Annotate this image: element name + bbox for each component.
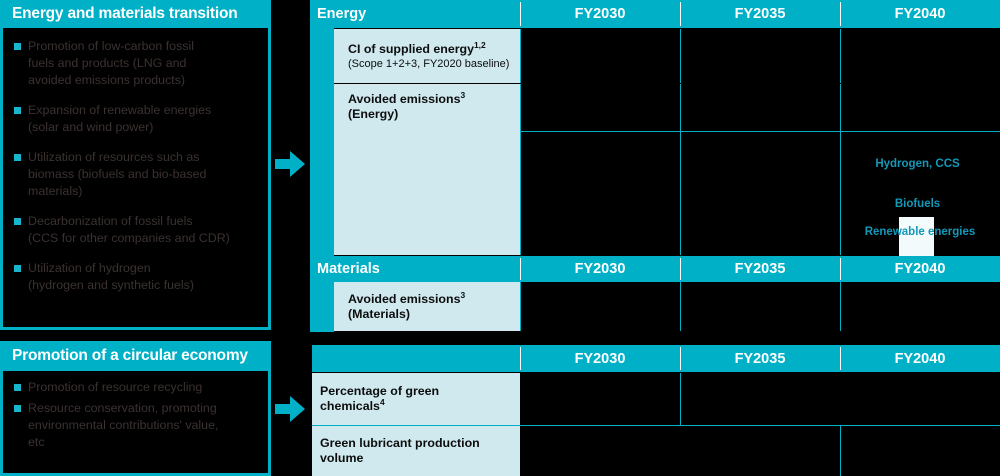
- table-circular-economy: FY2030 FY2035 FY2040 Percentage of green…: [312, 345, 1000, 476]
- list-item: Expansion of renewable energies (solar a…: [14, 102, 258, 136]
- cell-divider-am-2: [680, 282, 681, 331]
- data-cell-ci-fy2030: [520, 29, 680, 83]
- cell-divider-ae-l2: [680, 132, 681, 255]
- footnote-marker: 1,2: [474, 39, 486, 49]
- col-header-circular-fy2040: FY2040: [840, 345, 1000, 372]
- panel-energy-materials-transition: Energy and materials transition Promotio…: [0, 0, 271, 330]
- list-item: Promotion of low-carbon fossil fuels and…: [14, 38, 258, 89]
- bullet-list-energy-materials: Promotion of low-carbon fossil fuels and…: [3, 28, 268, 300]
- cell-divider-ae-u2: [680, 84, 681, 131]
- cell-divider-am-1: [520, 282, 521, 331]
- data-cell-green-chem-fy2030: [520, 373, 680, 425]
- header-divider-3: [840, 2, 841, 26]
- panel-title-circular-economy: Promotion of a circular economy: [0, 341, 271, 371]
- cell-divider-ae-l3: [840, 132, 841, 255]
- footnote-marker: 3: [460, 90, 465, 100]
- cell-divider-gl-1: [840, 426, 841, 476]
- table-left-accent-strip: [310, 0, 334, 332]
- row-label-main: Green lubricant production volume: [320, 436, 480, 466]
- data-cell-lubricant-fy2040: [840, 426, 1000, 476]
- row-label-main: Avoided emissions3: [348, 292, 465, 307]
- data-cell-ci-fy2040: [840, 29, 1000, 83]
- col-header-energy-fy2030: FY2030: [520, 0, 680, 28]
- cell-divider-ae-u3: [840, 84, 841, 131]
- materials-header-divider-1: [520, 258, 521, 280]
- circular-row-divider: [312, 425, 1000, 426]
- data-cell-avoided-energy-upper-fy2035: [680, 84, 840, 131]
- list-item: Utilization of hydrogen (hydrogen and sy…: [14, 260, 258, 294]
- right-arrow-top: [275, 151, 307, 177]
- cell-divider-ae-u1: [520, 84, 521, 131]
- col-header-materials-fy2030: FY2030: [520, 256, 680, 282]
- cell-divider-am-3: [840, 282, 841, 331]
- col-header-energy-fy2035: FY2035: [680, 0, 840, 28]
- row-label-main: Avoided emissions3: [348, 92, 465, 107]
- list-item: Decarbonization of fossil fuels (CCS for…: [14, 213, 258, 247]
- bar-annotation-hydrogen-ccs: Hydrogen, CCS: [845, 158, 990, 170]
- data-cell-green-chem-fy2035: [680, 373, 840, 425]
- section-header-circular: [312, 345, 520, 372]
- bar-annotation-renewable-energies: Renewable energies: [845, 226, 995, 238]
- data-cell-avoided-materials-fy2035: [680, 282, 840, 331]
- materials-header-divider-2: [680, 258, 681, 280]
- section-header-materials: Materials: [310, 256, 520, 282]
- circular-header-divider-3: [840, 347, 841, 370]
- row-label-avoided-emissions-materials: Avoided emissions3 (Materials): [334, 282, 520, 331]
- row-label-percentage-green-chemicals: Percentage of green chemicals4: [312, 373, 520, 425]
- circular-header-divider-2: [680, 347, 681, 370]
- chart-cell-fy2035: [680, 132, 840, 255]
- row-label-ci-supplied-energy: CI of supplied energy1,2 (Scope 1+2+3, F…: [334, 29, 520, 83]
- chart-cell-fy2030: [520, 132, 680, 255]
- col-header-circular-fy2035: FY2035: [680, 345, 840, 372]
- panel-body-circular-economy: Promotion of resource recycling Resource…: [0, 371, 271, 476]
- row-label-sub: (Energy): [348, 107, 398, 122]
- row-label-sub: (Scope 1+2+3, FY2020 baseline): [348, 57, 509, 71]
- bullet-list-circular-economy: Promotion of resource recycling Resource…: [3, 371, 268, 461]
- data-cell-green-chem-fy2040: [840, 373, 1000, 425]
- panel-title-energy-materials-transition: Energy and materials transition: [0, 0, 271, 28]
- panel-circular-economy: Promotion of a circular economy Promotio…: [0, 341, 271, 476]
- panel-body-energy-materials-transition: Promotion of low-carbon fossil fuels and…: [0, 28, 271, 330]
- cell-divider-ci-2: [680, 29, 681, 83]
- arrow-head: [290, 396, 305, 422]
- right-arrow-bottom: [275, 396, 307, 422]
- row-label-main: CI of supplied energy1,2: [348, 42, 486, 57]
- cell-divider-ae-l1: [520, 132, 521, 255]
- row-label-main: Percentage of green chemicals4: [320, 384, 439, 414]
- bar-annotation-biofuels: Biofuels: [845, 198, 990, 210]
- data-cell-ci-fy2035: [680, 29, 840, 83]
- data-cell-lubricant-fy2030: [520, 426, 680, 476]
- materials-header-divider-3: [840, 258, 841, 280]
- arrow-head: [290, 151, 305, 177]
- col-header-energy-fy2040: FY2040: [840, 0, 1000, 28]
- circular-header-divider-1: [520, 347, 521, 370]
- data-cell-avoided-materials-fy2040: [840, 282, 1000, 331]
- infographic-root: Energy and materials transition Promotio…: [0, 0, 1000, 476]
- row-label-green-lubricant-volume: Green lubricant production volume: [312, 426, 520, 476]
- list-item: Promotion of resource recycling: [14, 379, 258, 396]
- table-energy-materials: Energy FY2030 FY2035 FY2040 CI of suppli…: [310, 0, 1000, 332]
- list-item: Resource conservation, promoting environ…: [14, 400, 258, 451]
- data-cell-avoided-energy-upper-fy2040: [840, 84, 1000, 131]
- cell-divider-ci-1: [520, 29, 521, 83]
- col-header-materials-fy2040: FY2040: [840, 256, 1000, 282]
- col-header-circular-fy2030: FY2030: [520, 345, 680, 372]
- col-header-materials-fy2035: FY2035: [680, 256, 840, 282]
- cell-divider-gc-1: [680, 373, 681, 425]
- header-divider-2: [680, 2, 681, 26]
- footnote-marker: 3: [460, 289, 465, 299]
- data-cell-avoided-energy-upper-fy2030: [520, 84, 680, 131]
- data-cell-lubricant-fy2035: [680, 426, 840, 476]
- section-header-energy: Energy: [310, 0, 520, 28]
- row-label-avoided-emissions-energy: Avoided emissions3 (Energy): [334, 84, 520, 255]
- data-cell-avoided-materials-fy2030: [520, 282, 680, 331]
- header-divider-1: [520, 2, 521, 26]
- cell-divider-ci-3: [840, 29, 841, 83]
- list-item: Utilization of resources such as biomass…: [14, 149, 258, 200]
- footnote-marker: 4: [380, 397, 385, 407]
- row-label-sub: (Materials): [348, 307, 410, 322]
